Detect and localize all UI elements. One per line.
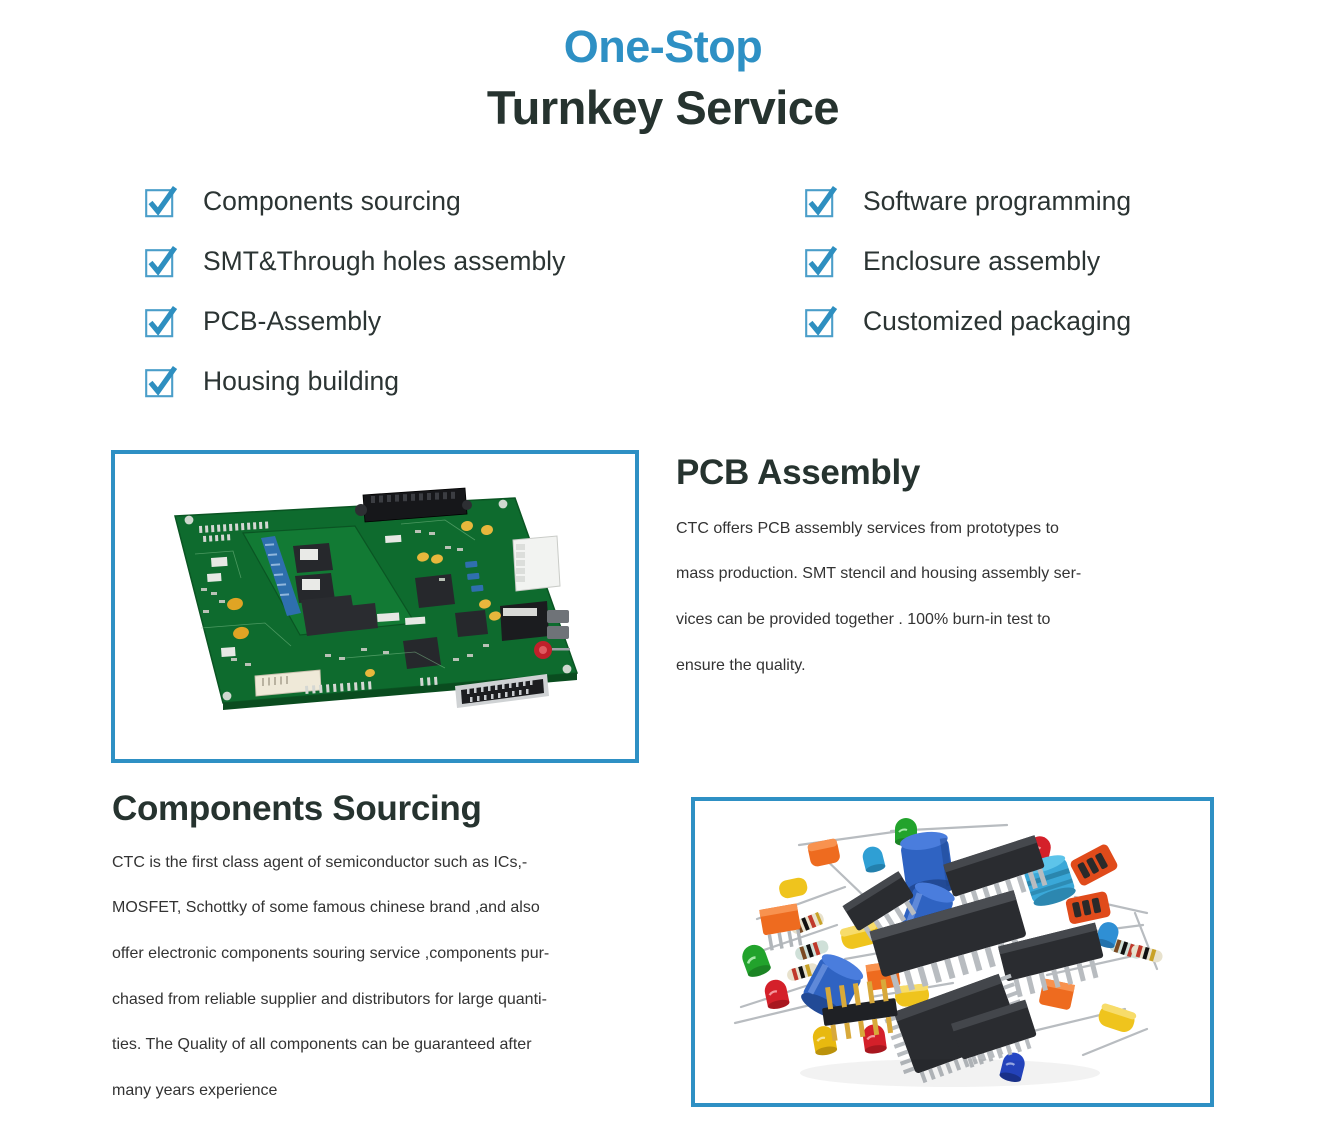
components-sourcing-image-frame <box>691 797 1214 1107</box>
components-sourcing-body-line: ties. The Quality of all components can … <box>112 1022 652 1068</box>
pcb-assembly-body-line: CTC offers PCB assembly services from pr… <box>676 506 1206 552</box>
checkbox-check-icon <box>805 306 836 337</box>
components-sourcing-text-block: Components Sourcing CTC is the first cla… <box>112 791 652 1113</box>
electronic-components-illustration <box>695 801 1210 1103</box>
page-title-accent-line: One-Stop <box>0 24 1326 69</box>
checkbox-check-icon <box>145 186 176 217</box>
components-sourcing-body-line: many years experience <box>112 1068 652 1114</box>
components-sourcing-body-line: CTC is the first class agent of semicond… <box>112 840 652 886</box>
feature-item-label: Enclosure assembly <box>863 242 1100 280</box>
feature-item-label: Software programming <box>863 182 1131 220</box>
page-title-main-line: Turnkey Service <box>0 84 1326 131</box>
checkbox-check-icon <box>145 366 176 397</box>
pcb-assembly-body-line: vices can be provided together . 100% bu… <box>676 597 1206 643</box>
components-sourcing-body-line: MOSFET, Schottky of some famous chinese … <box>112 885 652 931</box>
pcb-assembly-body-line: mass production. SMT stencil and housing… <box>676 551 1206 597</box>
feature-column-left: Components sourcing SMT&Through holes as… <box>145 182 565 422</box>
components-sourcing-body: CTC is the first class agent of semicond… <box>112 840 652 1114</box>
feature-item-label: Housing building <box>203 362 399 400</box>
feature-checklist: Components sourcing SMT&Through holes as… <box>0 182 1326 422</box>
feature-item: Customized packaging <box>805 302 1131 362</box>
pcb-assembly-image-frame <box>111 450 639 763</box>
checkbox-check-icon <box>145 246 176 277</box>
checkbox-check-icon <box>805 246 836 277</box>
pcb-assembly-body-line: ensure the quality. <box>676 643 1206 689</box>
feature-item: SMT&Through holes assembly <box>145 242 565 302</box>
components-sourcing-body-line: offer electronic components souring serv… <box>112 931 652 977</box>
feature-item-label: PCB-Assembly <box>203 302 381 340</box>
feature-item-label: SMT&Through holes assembly <box>203 242 565 280</box>
pcb-assembly-body: CTC offers PCB assembly services from pr… <box>676 506 1206 688</box>
components-sourcing-heading: Components Sourcing <box>112 791 652 828</box>
page-title: One-Stop Turnkey Service <box>0 24 1326 131</box>
pcb-assembly-text-block: PCB Assembly CTC offers PCB assembly ser… <box>676 455 1206 688</box>
feature-item: Housing building <box>145 362 565 422</box>
feature-item: PCB-Assembly <box>145 302 565 362</box>
feature-item-label: Components sourcing <box>203 182 461 220</box>
feature-item: Enclosure assembly <box>805 242 1131 302</box>
feature-item-label: Customized packaging <box>863 302 1131 340</box>
feature-item: Components sourcing <box>145 182 565 242</box>
components-sourcing-body-line: chased from reliable supplier and distri… <box>112 977 652 1023</box>
pcb-assembly-heading: PCB Assembly <box>676 455 1206 492</box>
feature-item: Software programming <box>805 182 1131 242</box>
pcb-board-illustration <box>115 454 635 759</box>
checkbox-check-icon <box>805 186 836 217</box>
feature-column-right: Software programming Enclosure assembly … <box>805 182 1131 362</box>
checkbox-check-icon <box>145 306 176 337</box>
